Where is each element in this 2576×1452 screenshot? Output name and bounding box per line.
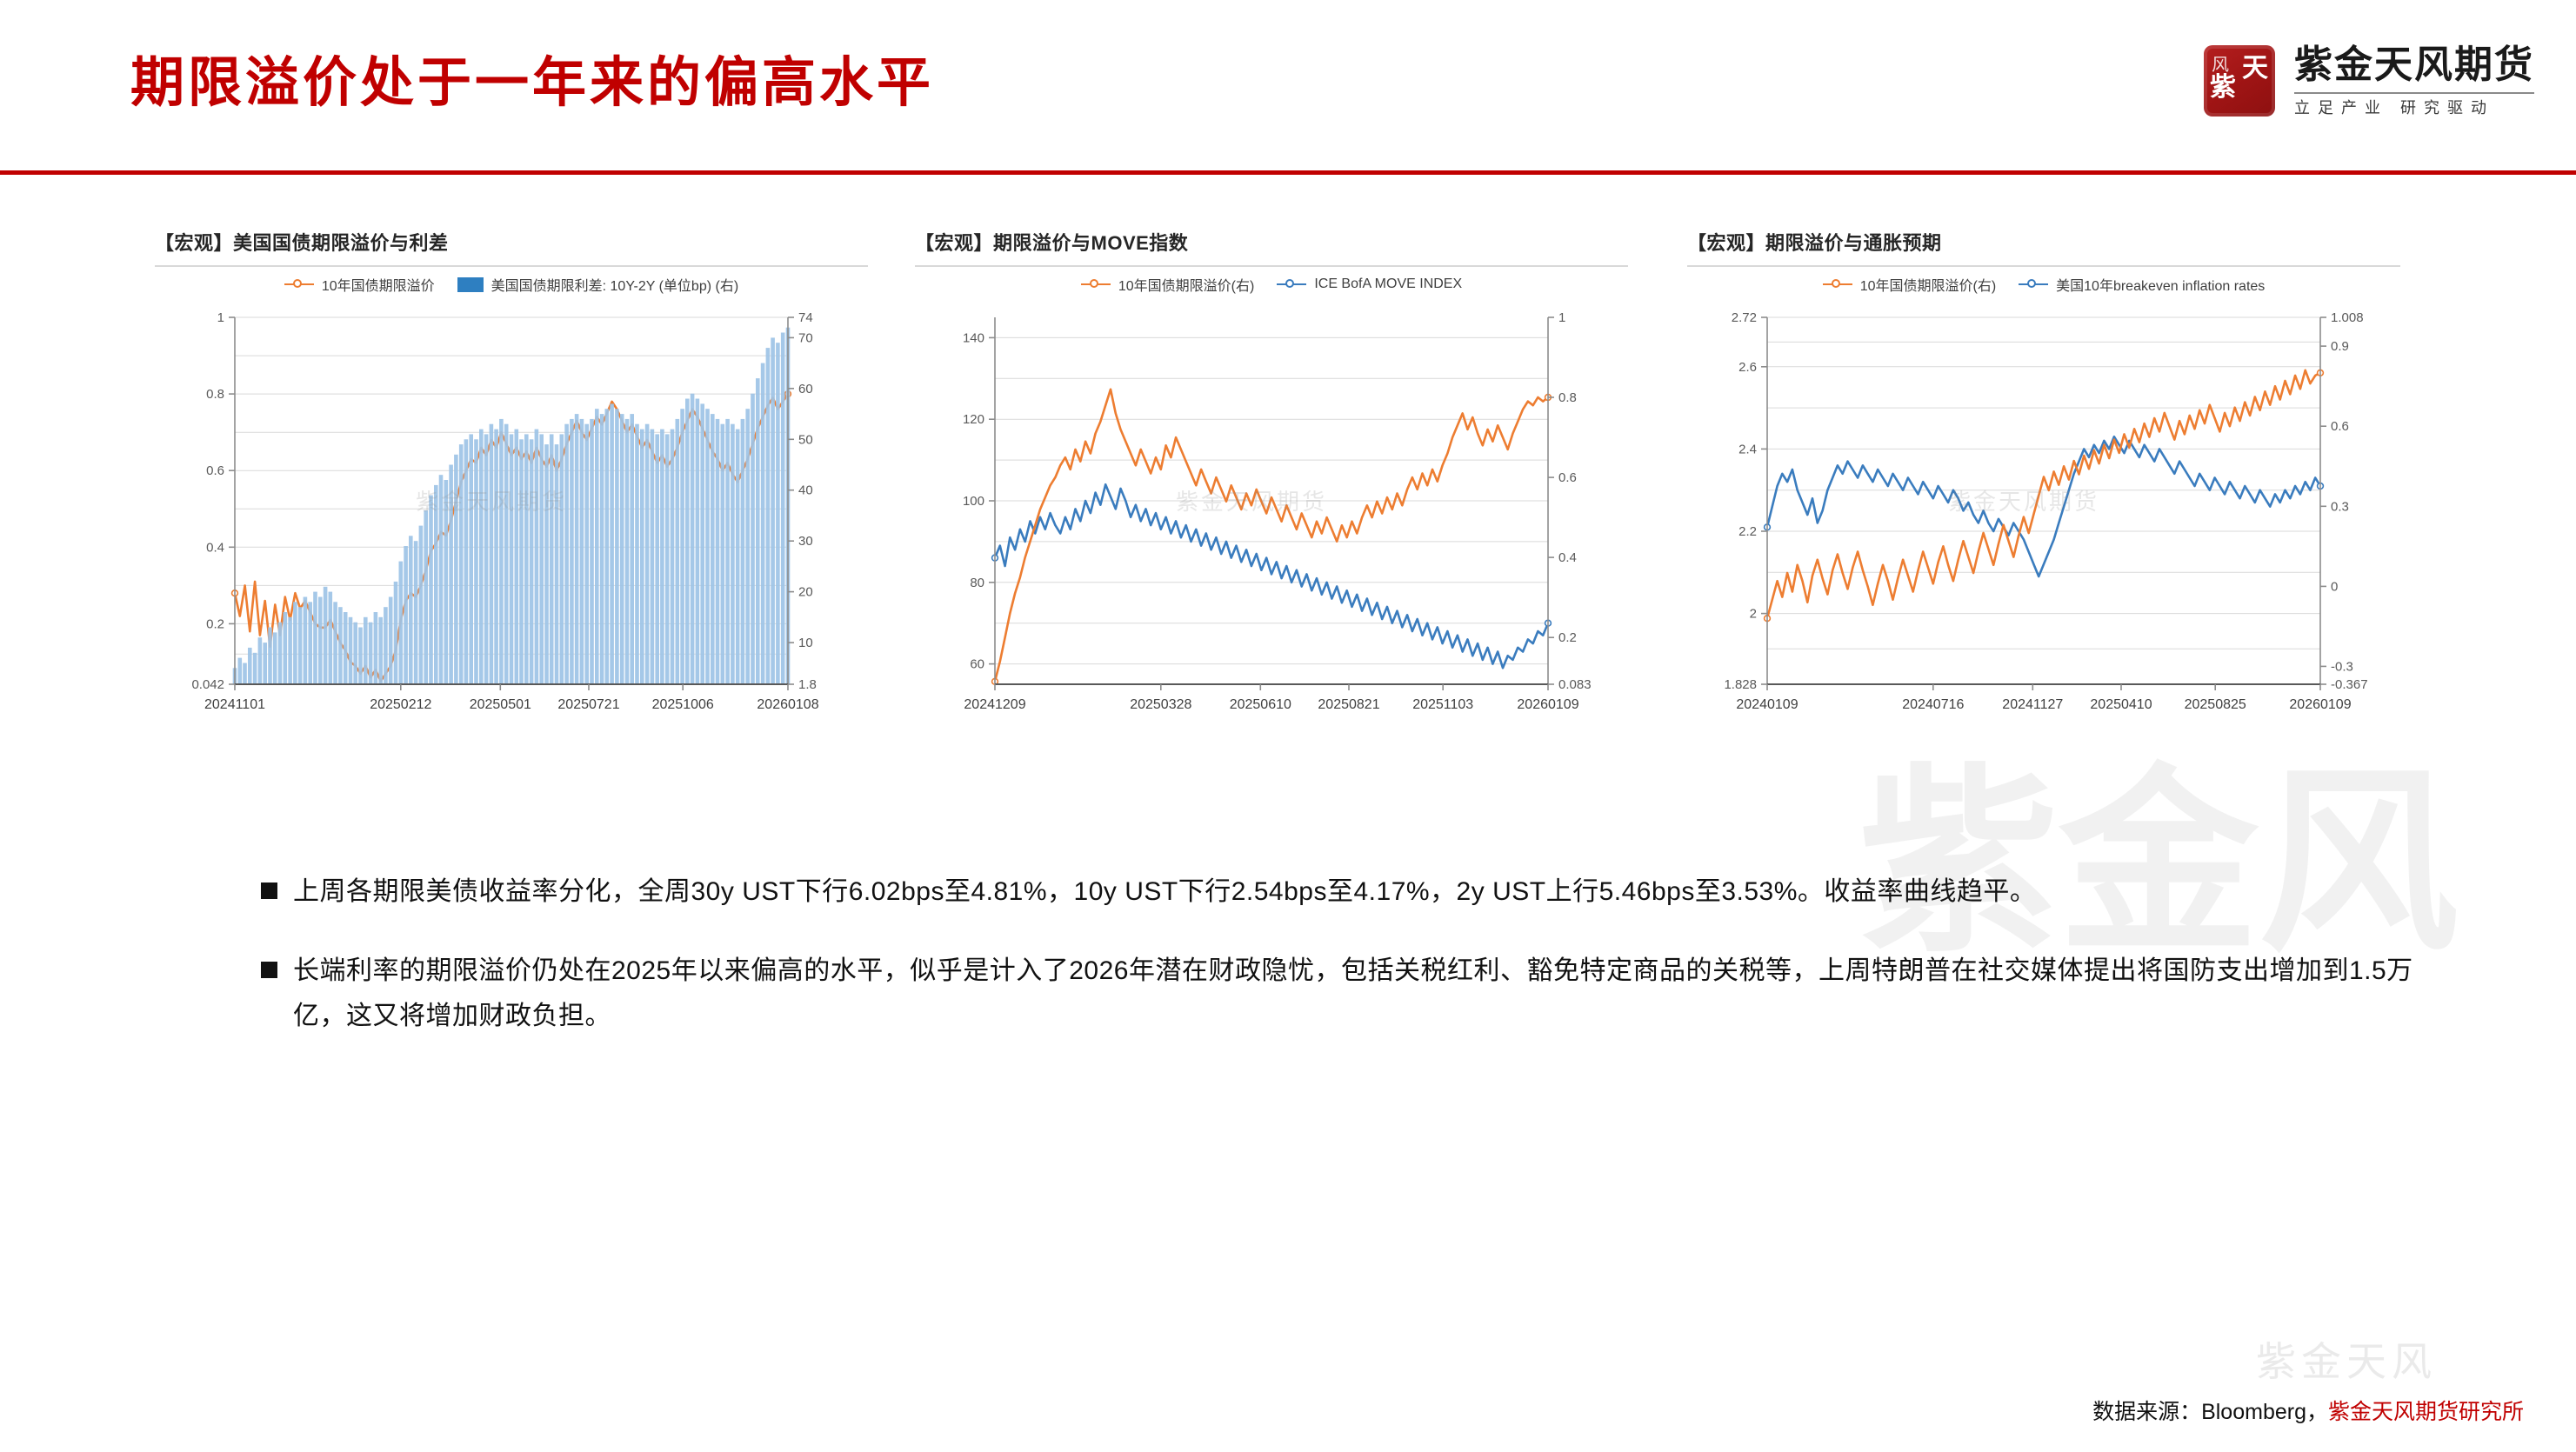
chart-card-term-premium-move: 【宏观】期限溢价与MOVE指数 10年国债期限溢价(右) ICE BofA MO… xyxy=(915,228,1628,784)
chart-legend: 10年国债期限溢价(右) 美国10年breakeven inflation ra… xyxy=(1687,267,2400,302)
list-item: 上周各期限美债收益率分化，全周30y UST下行6.02bps至4.81%，10… xyxy=(261,869,2418,916)
svg-text:-0.3: -0.3 xyxy=(2331,659,2353,674)
svg-text:1: 1 xyxy=(1558,310,1565,325)
svg-text:0.2: 0.2 xyxy=(1558,630,1577,645)
svg-text:60: 60 xyxy=(970,657,984,672)
legend-item: 10年国债期限溢价(右) xyxy=(1823,274,1996,295)
svg-text:30: 30 xyxy=(798,534,813,549)
seal-icon: 风 紫 天 xyxy=(2204,45,2275,117)
page-watermark-badge: 紫金天风 xyxy=(2256,1330,2437,1388)
chart-title: 【宏观】期限溢价与通胀预期 xyxy=(1687,228,2400,256)
logo-slogan: 立足产业 研究驱动 xyxy=(2294,100,2534,116)
chart-legend: 10年国债期限溢价(右) ICE BofA MOVE INDEX xyxy=(915,267,1628,302)
svg-text:0.3: 0.3 xyxy=(2331,499,2349,514)
chart-plot-area: 60801001201400.0830.20.40.60.81202412092… xyxy=(915,302,1628,754)
source-value: Bloomberg， xyxy=(2201,1400,2328,1424)
legend-line-marker-icon xyxy=(284,278,314,290)
svg-text:20260109: 20260109 xyxy=(1517,697,1578,712)
source-prefix: 数据来源： xyxy=(2092,1400,2201,1424)
legend-label: 10年国债期限溢价(右) xyxy=(1118,274,1254,295)
svg-text:0.4: 0.4 xyxy=(1558,550,1577,565)
svg-text:20250821: 20250821 xyxy=(1318,697,1379,712)
list-item: 长端利率的期限溢价仍处在2025年以来偏高的水平，似乎是计入了2026年潜在财政… xyxy=(261,949,2418,1040)
svg-text:0.6: 0.6 xyxy=(1558,470,1577,485)
chart-canvas: 60801001201400.0830.20.40.60.81202412092… xyxy=(915,302,1628,736)
page-header: 期限溢价处于一年来的偏高水平 风 紫 天 紫金天风期货 立足产业 研究驱动 xyxy=(0,0,2576,170)
svg-text:2.2: 2.2 xyxy=(1738,524,1757,539)
svg-text:20250410: 20250410 xyxy=(2090,697,2152,712)
legend-label: 美国10年breakeven inflation rates xyxy=(2056,274,2265,295)
svg-text:1.828: 1.828 xyxy=(1724,677,1757,692)
svg-text:20251103: 20251103 xyxy=(1412,697,1473,712)
svg-text:1: 1 xyxy=(217,310,224,325)
legend-item: 10年国债期限溢价 xyxy=(284,274,435,295)
bullet-square-icon xyxy=(261,883,277,899)
svg-text:0: 0 xyxy=(2331,579,2338,594)
svg-text:0.042: 0.042 xyxy=(191,677,224,692)
svg-text:20250328: 20250328 xyxy=(1130,697,1191,712)
legend-label: 10年国债期限溢价(右) xyxy=(1860,274,1996,295)
legend-label: 10年国债期限溢价 xyxy=(322,274,435,295)
seal-char-zi: 紫 xyxy=(2210,75,2236,101)
legend-item: 美国10年breakeven inflation rates xyxy=(2019,274,2265,295)
svg-text:100: 100 xyxy=(963,494,984,509)
svg-text:70: 70 xyxy=(798,330,813,345)
svg-text:1.8: 1.8 xyxy=(798,677,817,692)
svg-text:2.4: 2.4 xyxy=(1738,442,1757,456)
svg-text:80: 80 xyxy=(970,576,984,590)
svg-text:2.6: 2.6 xyxy=(1738,360,1757,375)
svg-text:1.008: 1.008 xyxy=(2331,310,2364,325)
seal-char-tian: 天 xyxy=(2242,56,2268,82)
svg-text:0.4: 0.4 xyxy=(206,540,224,555)
chart-title: 【宏观】美国国债期限溢价与利差 xyxy=(155,228,868,256)
legend-line-marker-icon xyxy=(1081,278,1111,290)
svg-text:20250825: 20250825 xyxy=(2185,697,2246,712)
logo-company-name: 紫金天风期货 xyxy=(2294,46,2534,84)
svg-text:20260108: 20260108 xyxy=(757,697,818,712)
svg-text:20250501: 20250501 xyxy=(470,697,531,712)
logo-divider xyxy=(2294,92,2534,94)
page-title: 期限溢价处于一年来的偏高水平 xyxy=(130,38,934,117)
legend-line-marker-icon xyxy=(1277,278,1306,290)
chart-card-term-premium-spread: 【宏观】美国国债期限溢价与利差 10年国债期限溢价 美国国债期限利差: 10Y-… xyxy=(155,228,868,784)
chart-plot-area: 1.82822.22.42.62.72-0.367-0.300.30.60.91… xyxy=(1687,302,2400,754)
legend-item: 10年国债期限溢价(右) xyxy=(1081,274,1254,295)
svg-text:0.6: 0.6 xyxy=(2331,419,2349,434)
legend-item: 美国国债期限利差: 10Y-2Y (单位bp) (右) xyxy=(457,274,739,295)
svg-text:2.72: 2.72 xyxy=(1732,310,1757,325)
bullet-text: 上周各期限美债收益率分化，全周30y UST下行6.02bps至4.81%，10… xyxy=(293,869,2036,916)
svg-text:0.6: 0.6 xyxy=(206,463,224,478)
bullet-text: 长端利率的期限溢价仍处在2025年以来偏高的水平，似乎是计入了2026年潜在财政… xyxy=(293,949,2418,1040)
svg-text:0.9: 0.9 xyxy=(2331,339,2349,354)
svg-text:0.8: 0.8 xyxy=(1558,390,1577,405)
legend-label: 美国国债期限利差: 10Y-2Y (单位bp) (右) xyxy=(491,274,739,295)
company-logo: 风 紫 天 紫金天风期货 立足产业 研究驱动 xyxy=(2204,45,2534,117)
source-note: 数据来源：Bloomberg，紫金天风期货研究所 xyxy=(2092,1395,2524,1426)
svg-text:20250610: 20250610 xyxy=(1230,697,1291,712)
svg-text:0.8: 0.8 xyxy=(206,387,224,402)
svg-text:0.083: 0.083 xyxy=(1558,677,1592,692)
chart-plot-area: 0.0420.20.40.60.811.81020304050607074202… xyxy=(155,302,868,754)
chart-canvas: 1.82822.22.42.62.72-0.367-0.300.30.60.91… xyxy=(1687,302,2400,736)
legend-line-marker-icon xyxy=(2019,278,2048,290)
svg-text:120: 120 xyxy=(963,412,984,427)
svg-text:2: 2 xyxy=(1750,607,1757,622)
chart-canvas: 0.0420.20.40.60.811.81020304050607074202… xyxy=(155,302,868,736)
svg-text:20240716: 20240716 xyxy=(1902,697,1964,712)
legend-label: ICE BofA MOVE INDEX xyxy=(1314,276,1462,292)
svg-text:20: 20 xyxy=(798,585,813,600)
svg-text:50: 50 xyxy=(798,432,813,447)
svg-text:10: 10 xyxy=(798,636,813,650)
svg-text:40: 40 xyxy=(798,483,813,498)
charts-row: 【宏观】美国国债期限溢价与利差 10年国债期限溢价 美国国债期限利差: 10Y-… xyxy=(0,228,2576,784)
svg-text:0.2: 0.2 xyxy=(206,616,224,631)
svg-text:60: 60 xyxy=(798,382,813,396)
header-rule xyxy=(0,170,2576,175)
legend-line-marker-icon xyxy=(1823,278,1852,290)
bullet-square-icon xyxy=(261,962,277,978)
svg-text:140: 140 xyxy=(963,330,984,345)
svg-text:20251006: 20251006 xyxy=(652,697,714,712)
legend-swatch-icon xyxy=(457,277,484,292)
svg-text:20241209: 20241209 xyxy=(964,697,1025,712)
svg-text:20241127: 20241127 xyxy=(2002,697,2063,712)
svg-text:-0.367: -0.367 xyxy=(2331,677,2368,692)
svg-text:20241101: 20241101 xyxy=(204,697,265,712)
legend-item: ICE BofA MOVE INDEX xyxy=(1277,276,1462,292)
svg-text:20260109: 20260109 xyxy=(2289,697,2351,712)
source-brand: 紫金天风期货研究所 xyxy=(2328,1400,2524,1424)
logo-text-block: 紫金天风期货 立足产业 研究驱动 xyxy=(2294,46,2534,116)
svg-text:20250212: 20250212 xyxy=(370,697,431,712)
svg-text:74: 74 xyxy=(798,310,813,325)
chart-card-term-premium-inflation: 【宏观】期限溢价与通胀预期 10年国债期限溢价(右) 美国10年breakeve… xyxy=(1687,228,2400,784)
chart-legend: 10年国债期限溢价 美国国债期限利差: 10Y-2Y (单位bp) (右) xyxy=(155,267,868,302)
bullet-list: 上周各期限美债收益率分化，全周30y UST下行6.02bps至4.81%，10… xyxy=(261,869,2418,1073)
svg-text:20240109: 20240109 xyxy=(1736,697,1798,712)
svg-text:20250721: 20250721 xyxy=(557,697,619,712)
chart-title: 【宏观】期限溢价与MOVE指数 xyxy=(915,228,1628,256)
